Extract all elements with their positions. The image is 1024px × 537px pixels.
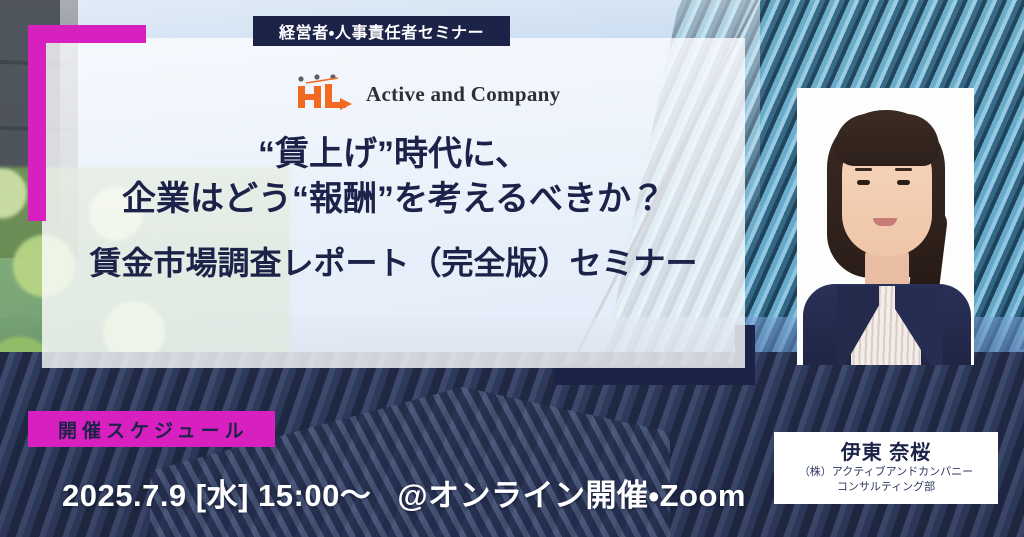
speaker-photo-inner [797,88,974,365]
speaker-photo [797,88,974,365]
portrait-eyebrow-right [895,168,912,171]
seminar-banner: 経営者・人事責任者セミナー Active and Company “賃上げ”時代… [0,0,1024,537]
schedule-label-text: 開催スケジュール [58,416,249,443]
speaker-info-card: 伊東 奈桜 （株）アクティブアンドカンパニー コンサルティング部 [774,432,998,504]
headline-line-2: 企業はどう“報酬”を考えるべきか？ [42,176,745,222]
headline: “賃上げ”時代に、 企業はどう“報酬”を考えるべきか？ [42,132,745,222]
company-logo: Active and Company [292,74,560,114]
company-logo-text: Active and Company [366,82,560,107]
schedule-venue: @オンライン開催・Zoom [397,478,746,513]
speaker-name: 伊東 奈桜 [841,441,932,465]
audience-ribbon-label: 経営者・人事責任者セミナー [279,19,484,43]
speaker-org-line-2: コンサルティング部 [837,480,935,495]
portrait-eye-left [857,180,870,185]
active-and-company-logo-mark [292,74,354,114]
portrait-eye-right [897,180,910,185]
schedule-details: 2025.7.9 [水] 15:00〜@オンライン開催・Zoom [62,470,746,515]
headline-subtitle: 賃金市場調査レポート（完全版）セミナー [42,240,745,286]
headline-line-1: “賃上げ”時代に、 [42,132,745,176]
audience-ribbon: 経営者・人事責任者セミナー [253,16,510,46]
schedule-date: 2025.7.9 [水] 15:00〜 [62,478,371,513]
speaker-org-line-1: （株）アクティブアンドカンパニー [799,465,973,480]
schedule-label-band: 開催スケジュール [28,411,275,447]
portrait-fringe [835,114,939,166]
portrait-eyebrow-left [855,168,872,171]
